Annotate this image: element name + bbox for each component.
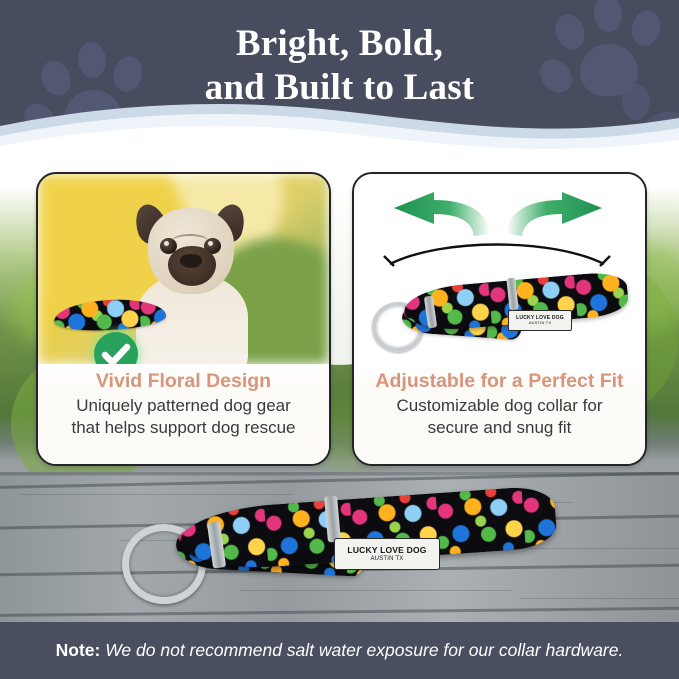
width-arc-indicator: [382, 236, 612, 270]
pug-photo: [38, 174, 329, 364]
page-title-line-2: and Built to Last: [0, 66, 679, 110]
page-title: Bright, Bold, and Built to Last: [0, 22, 679, 110]
brand-tag-line-2: AUSTIN TX: [529, 321, 552, 325]
infographic-page: Bright, Bold, and Built to Last: [0, 0, 679, 679]
card-caption: Adjustable for a Perfect Fit Customizabl…: [354, 364, 645, 464]
page-title-line-1: Bright, Bold,: [0, 22, 679, 66]
pug-illustration: [122, 190, 258, 364]
pug-nose: [180, 254, 202, 268]
card-body-line-2: secure and snug fit: [354, 417, 645, 439]
footer-note: Note: We do not recommend salt water exp…: [56, 640, 624, 661]
feature-card-adjustable-perfect-fit[interactable]: LUCKY LOVE DOG AUSTIN TX Adjustable for …: [352, 172, 647, 466]
hero-collar-photo: LUCKY LOVE DOG AUSTIN TX: [118, 482, 558, 610]
card-body-line-1: Customizable dog collar for: [354, 395, 645, 417]
card-heading: Adjustable for a Perfect Fit: [354, 368, 645, 394]
brand-tag: LUCKY LOVE DOG AUSTIN TX: [508, 310, 572, 331]
collar-illustration: LUCKY LOVE DOG AUSTIN TX: [368, 266, 630, 352]
card-caption: Vivid Floral Design Uniquely patterned d…: [38, 364, 329, 464]
feature-card-vivid-floral-design[interactable]: Vivid Floral Design Uniquely patterned d…: [36, 172, 331, 466]
brand-tag-line-1: LUCKY LOVE DOG: [347, 546, 426, 555]
check-icon: [94, 332, 138, 364]
brand-tag-line-2: AUSTIN TX: [370, 556, 403, 562]
brand-tag: LUCKY LOVE DOG AUSTIN TX: [334, 538, 440, 570]
footer-note-bar: Note: We do not recommend salt water exp…: [0, 622, 679, 679]
footer-note-lead: Note:: [56, 640, 101, 660]
card-heading: Vivid Floral Design: [38, 368, 329, 394]
card-body-line-2: that helps support dog rescue: [38, 417, 329, 439]
card-body-line-1: Uniquely patterned dog gear: [38, 395, 329, 417]
header-banner: Bright, Bold, and Built to Last: [0, 0, 679, 150]
collar-adjust-photo: LUCKY LOVE DOG AUSTIN TX: [354, 174, 645, 364]
footer-note-message: We do not recommend salt water exposure …: [105, 640, 623, 660]
